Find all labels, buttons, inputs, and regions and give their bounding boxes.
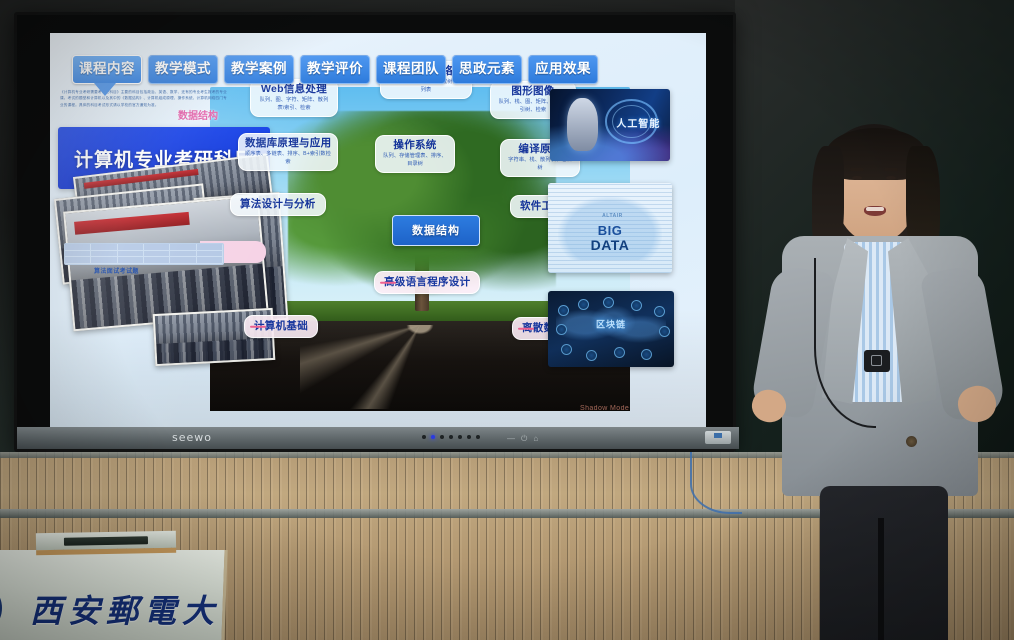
tree-node-data-structure-center[interactable]: 数据结构 (392, 215, 480, 246)
display-bezel: seewo — ⏻ ⌂ (17, 427, 739, 449)
tab-ideological-elements[interactable]: 思政元素 (452, 55, 522, 84)
big-data-line2: DATA (591, 237, 630, 253)
node-title: 高级语言程序设计 (384, 276, 470, 288)
power-icon[interactable]: ⏻ (521, 434, 527, 444)
big-data-line1: BIG (598, 223, 623, 238)
tree-node-algorithm-design[interactable]: 算法设计与分析 (230, 193, 326, 216)
blazer-button (906, 436, 917, 447)
display-led-indicators (422, 435, 480, 439)
ai-image-label: 人工智能 (616, 115, 660, 130)
home-icon[interactable]: ⌂ (533, 434, 538, 444)
minus-icon[interactable]: — (507, 434, 515, 444)
tab-teaching-case[interactable]: 教学案例 (224, 55, 294, 84)
node-title: 计算机基础 (254, 320, 308, 332)
node-title: 算法设计与分析 (240, 198, 316, 210)
node-title: 操作系统 (382, 139, 448, 151)
eye-left (852, 176, 862, 180)
pink-tag-label: 数据结构 (178, 107, 218, 122)
presenter (760, 118, 1014, 640)
display-brand-logo: seewo (172, 431, 212, 444)
tab-course-content[interactable]: 课程内容 (72, 55, 142, 84)
tree-node-computer-fundamentals[interactable]: 计算机基础 (244, 315, 318, 338)
tab-course-team[interactable]: 课程团队 (376, 55, 446, 84)
display-control-buttons[interactable]: — ⏻ ⌂ (507, 434, 538, 444)
lapel-microphone-icon (864, 350, 890, 372)
display-screen[interactable]: 《计算机专业考研需要考哪些科目》主要的科目包括政治、英语、数学、还有的专业考生报… (50, 33, 706, 427)
node-subtitle: 队列、图、字符、矩阵、散列表\索引、检索 (257, 96, 331, 112)
lectern-top (36, 531, 176, 555)
eyebrow-left (850, 168, 864, 171)
node-subtitle: 顺序表、多链表、排序、B+索引数检索 (245, 150, 331, 166)
tree-node-web-info-processing[interactable]: Web信息处理 队列、图、字符、矩阵、散列表\索引、检索 (250, 79, 338, 117)
tab-teaching-mode[interactable]: 教学模式 (148, 55, 218, 84)
watermark: Shadow Mode (580, 405, 629, 412)
node-title: Web信息处理 (257, 83, 331, 95)
blockchain-label: 区块链 (596, 318, 626, 331)
big-data-top-label: ALTAIR (602, 213, 623, 219)
mouth (864, 206, 886, 216)
university-name: 西安郵電大學 (30, 586, 238, 640)
tree-node-high-level-language[interactable]: 高级语言程序设计 (374, 271, 480, 294)
tree-roots (300, 325, 540, 409)
node-subtitle: 队列、存储管理表、排序、目录树 (382, 152, 448, 168)
presentation-slide: 《计算机专业考研需要考哪些科目》主要的科目包括政治、英语、数学、还有的专业考生报… (50, 33, 706, 427)
slide-nav-tabs[interactable]: 课程内容 教学模式 教学案例 教学评价 课程团队 思政元素 应用效果 (72, 55, 692, 84)
tab-application-effect[interactable]: 应用效果 (528, 55, 598, 84)
classroom-scene: 《计算机专业考研需要考哪些科目》主要的科目包括政治、英语、数学、还有的专业考生报… (0, 0, 1014, 640)
tab-teaching-evaluation[interactable]: 教学评价 (300, 55, 370, 84)
table-caption: 算法面试考试题 (94, 266, 139, 275)
big-data-image: ALTAIR BIG DATA (548, 183, 672, 273)
score-table (64, 243, 224, 265)
tree-node-database-principles[interactable]: 数据库原理与应用 顺序表、多链表、排序、B+索引数检索 (238, 133, 338, 171)
active-tab-chevron-down-icon (94, 83, 116, 96)
trousers (820, 486, 948, 640)
trouser-seam (878, 518, 884, 640)
center-node-label: 数据结构 (412, 225, 460, 237)
lectern: 西安郵電大學 (0, 536, 238, 640)
eyebrow-right (884, 168, 898, 171)
ir-sensor (705, 431, 731, 444)
eye-right (886, 176, 896, 180)
interactive-flat-panel-display[interactable]: 《计算机专业考研需要考哪些科目》主要的科目包括政治、英语、数学、还有的专业考生报… (14, 12, 736, 452)
blockchain-image: 区块链 (548, 291, 674, 367)
tree-node-operating-system[interactable]: 操作系统 队列、存储管理表、排序、目录树 (375, 135, 455, 173)
ai-image: 人工智能 (550, 89, 670, 161)
node-title: 数据库原理与应用 (245, 137, 331, 149)
